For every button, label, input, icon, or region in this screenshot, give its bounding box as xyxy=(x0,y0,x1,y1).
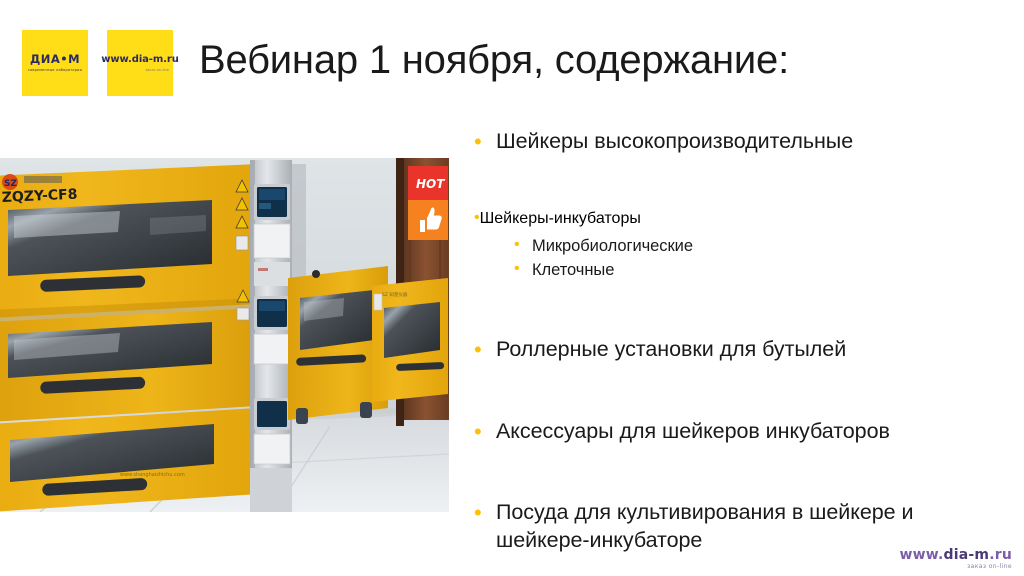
bullet-item-3: • Роллерные установки для бутылей xyxy=(474,336,1004,364)
bullet-item-1: • Шейкеры высокопроизводительные xyxy=(474,128,1004,156)
bullet-item-2-label: Шейкеры-инкубаторы xyxy=(480,210,641,228)
logo-diam-wordmark: ДИА•М xyxy=(30,54,80,66)
bullet-item-4: • Аксессуары для шейкеров инкубаторов xyxy=(474,418,1004,446)
bullet-item-2: • Шейкеры-инкубаторы xyxy=(474,210,1004,228)
bullet-subitem-2-2-label: Клеточные xyxy=(532,259,614,282)
product-photo-illustration: ZQZY-CF8 SZ www.shanghaizhichu.com xyxy=(0,158,449,512)
bullet-item-3-label: Роллерные установки для бутылей xyxy=(496,336,846,364)
watermark-tagline: заказ on-line xyxy=(899,564,1012,570)
logo-website-tagline: заказ on-line xyxy=(145,68,169,72)
bullet-item-1-label: Шейкеры высокопроизводительные xyxy=(496,128,853,156)
bullet-dot-icon: • xyxy=(474,418,496,443)
logo-diam: ДИА•М современные лаборатории xyxy=(22,30,88,96)
watermark: www.dia-m.ru заказ on-line xyxy=(899,548,1012,570)
product-photo: ZQZY-CF8 SZ www.shanghaizhichu.com xyxy=(0,158,449,512)
svg-text:SZ 知楚仪器: SZ 知楚仪器 xyxy=(382,291,408,298)
bullet-subitem-2-2: • Клеточные xyxy=(514,259,1004,282)
bullet-dot-icon: • xyxy=(474,336,496,361)
logo-website: www.dia-m.ru заказ on-line xyxy=(107,30,173,96)
presentation-slide: ДИА•М современные лаборатории www.dia-m.… xyxy=(0,0,1024,576)
logo-website-wordmark: www.dia-m.ru xyxy=(101,55,178,65)
bullet-dot-icon: • xyxy=(514,259,532,277)
bullet-subitem-2-1: • Микробиологические xyxy=(514,235,1004,258)
bullet-item-5: • Посуда для культивирования в шейкере и… xyxy=(474,499,1004,554)
content-bullet-list: • Шейкеры высокопроизводительные • Шейке… xyxy=(474,128,1004,554)
svg-text:HOT: HOT xyxy=(416,177,445,191)
badge-thumbs-up xyxy=(408,200,448,240)
badge-hot: HOT xyxy=(408,166,448,200)
bullet-group-2: • Шейкеры-инкубаторы • Микробиологически… xyxy=(474,210,1004,283)
watermark-url: www.dia-m.ru xyxy=(899,548,1012,562)
svg-text:SZ: SZ xyxy=(4,179,17,189)
bullet-item-4-label: Аксессуары для шейкеров инкубаторов xyxy=(496,418,890,446)
bullet-dot-icon: • xyxy=(474,128,496,153)
watermark-url-suffix: ru xyxy=(995,547,1012,563)
svg-text:www.shanghaizhichu.com: www.shanghaizhichu.com xyxy=(120,472,185,478)
bullet-subitem-2-1-label: Микробиологические xyxy=(532,235,693,258)
watermark-url-prefix: www xyxy=(899,547,938,563)
bullet-dot-icon: • xyxy=(514,235,532,253)
slide-title: Вебинар 1 ноября, содержание: xyxy=(199,38,999,82)
logo-diam-tagline: современные лаборатории xyxy=(28,68,82,72)
bullet-item-5-label: Посуда для культивирования в шейкере и ш… xyxy=(496,499,1004,554)
bullet-dot-icon: • xyxy=(474,499,496,524)
watermark-url-middle: dia-m xyxy=(944,547,990,563)
bullet-sublist-2: • Микробиологические • Клеточные xyxy=(514,235,1004,283)
